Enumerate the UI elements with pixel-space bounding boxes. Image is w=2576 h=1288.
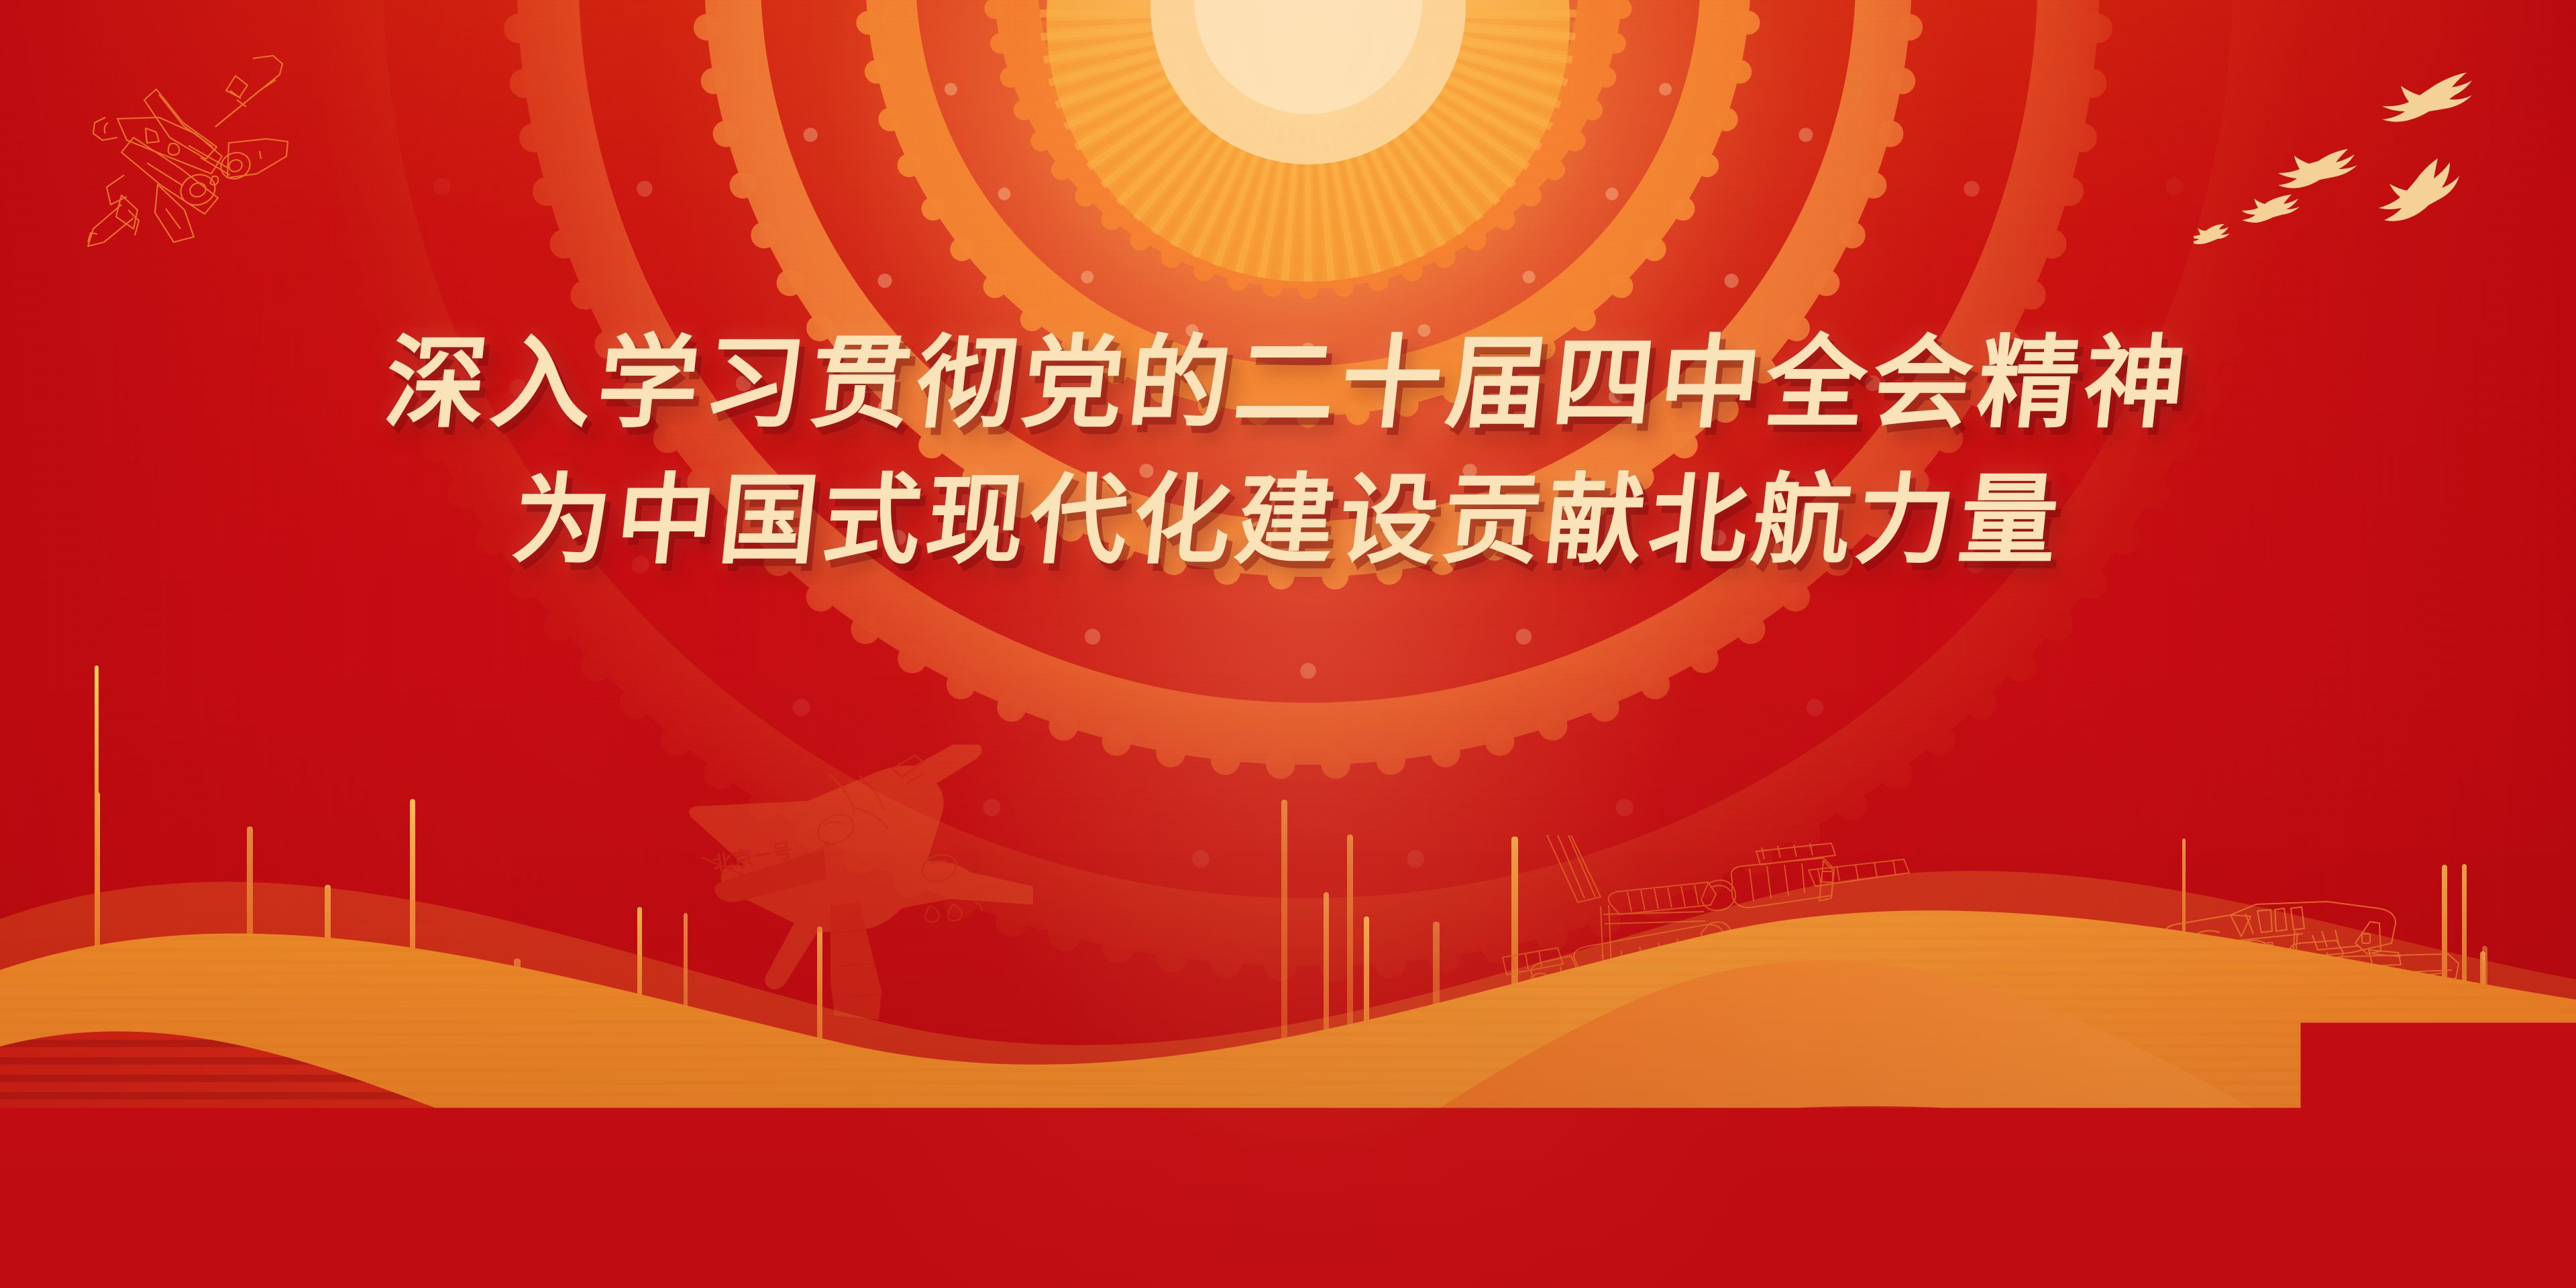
poster-canvas: 北京一号 (0, 0, 2576, 1288)
headline-block: 深入学习贯彻党的二十届四中全会精神 为中国式现代化建设贡献北航力量 (0, 315, 2576, 589)
bottom-fade (0, 0, 2576, 1288)
title-line-1: 深入学习贯彻党的二十届四中全会精神 (0, 315, 2576, 454)
title-line-2: 为中国式现代化建设贡献北航力量 (0, 454, 2576, 589)
